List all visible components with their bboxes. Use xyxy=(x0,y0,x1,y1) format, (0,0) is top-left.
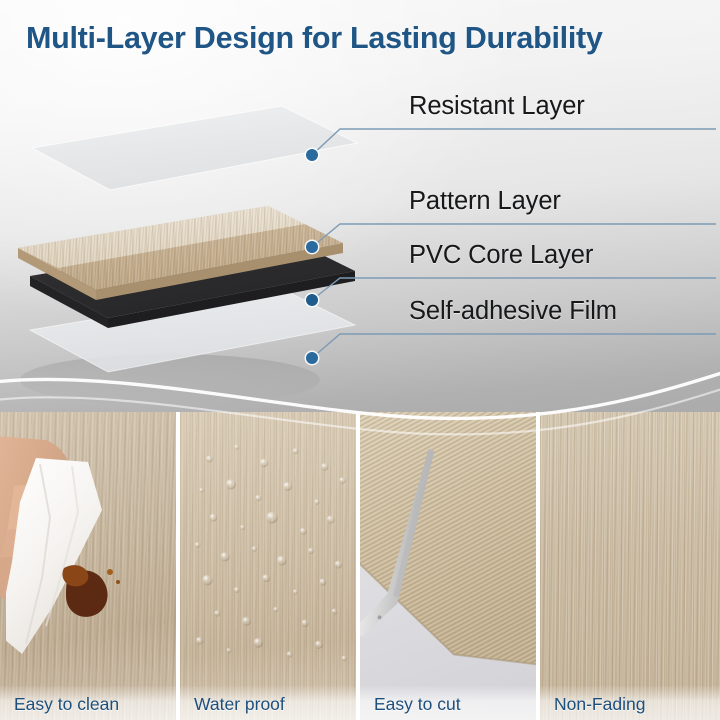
feature-panel-easy-to-clean[interactable]: Easy to clean xyxy=(0,412,180,720)
feature-caption-non-fading: Non-Fading xyxy=(554,694,645,715)
feature-caption-easy-to-cut: Easy to cut xyxy=(374,694,461,715)
feature-panel-easy-to-cut[interactable]: Easy to cut xyxy=(360,412,540,720)
layer-diagram-section: Multi-Layer Design for Lasting Durabilit… xyxy=(0,0,720,430)
infographic-page: Multi-Layer Design for Lasting Durabilit… xyxy=(0,0,720,720)
feature-panel-non-fading[interactable]: Non-Fading xyxy=(540,412,720,720)
knife-cutting-plank xyxy=(360,412,536,713)
feature-photo-strip: Easy to clean xyxy=(0,412,720,720)
stain-illustration xyxy=(60,562,130,622)
layer-shape-resistant xyxy=(32,106,357,190)
feature-caption-easy-to-clean: Easy to clean xyxy=(14,694,119,715)
layer-label-resistant: Resistant Layer xyxy=(409,92,585,121)
layer-label-pvc-core: PVC Core Layer xyxy=(409,241,593,270)
layer-label-self-adhesive: Self-adhesive Film xyxy=(409,297,617,326)
layer-label-pattern: Pattern Layer xyxy=(409,187,561,216)
exploded-stack-illustration xyxy=(0,80,400,410)
tissue-illustration xyxy=(6,458,126,658)
feature-caption-water-proof: Water proof xyxy=(194,694,285,715)
water-droplets xyxy=(180,412,356,713)
feature-panel-water-proof[interactable]: Water proof xyxy=(180,412,360,720)
vertical-grain-overlay xyxy=(540,412,720,720)
page-title: Multi-Layer Design for Lasting Durabilit… xyxy=(26,20,706,56)
